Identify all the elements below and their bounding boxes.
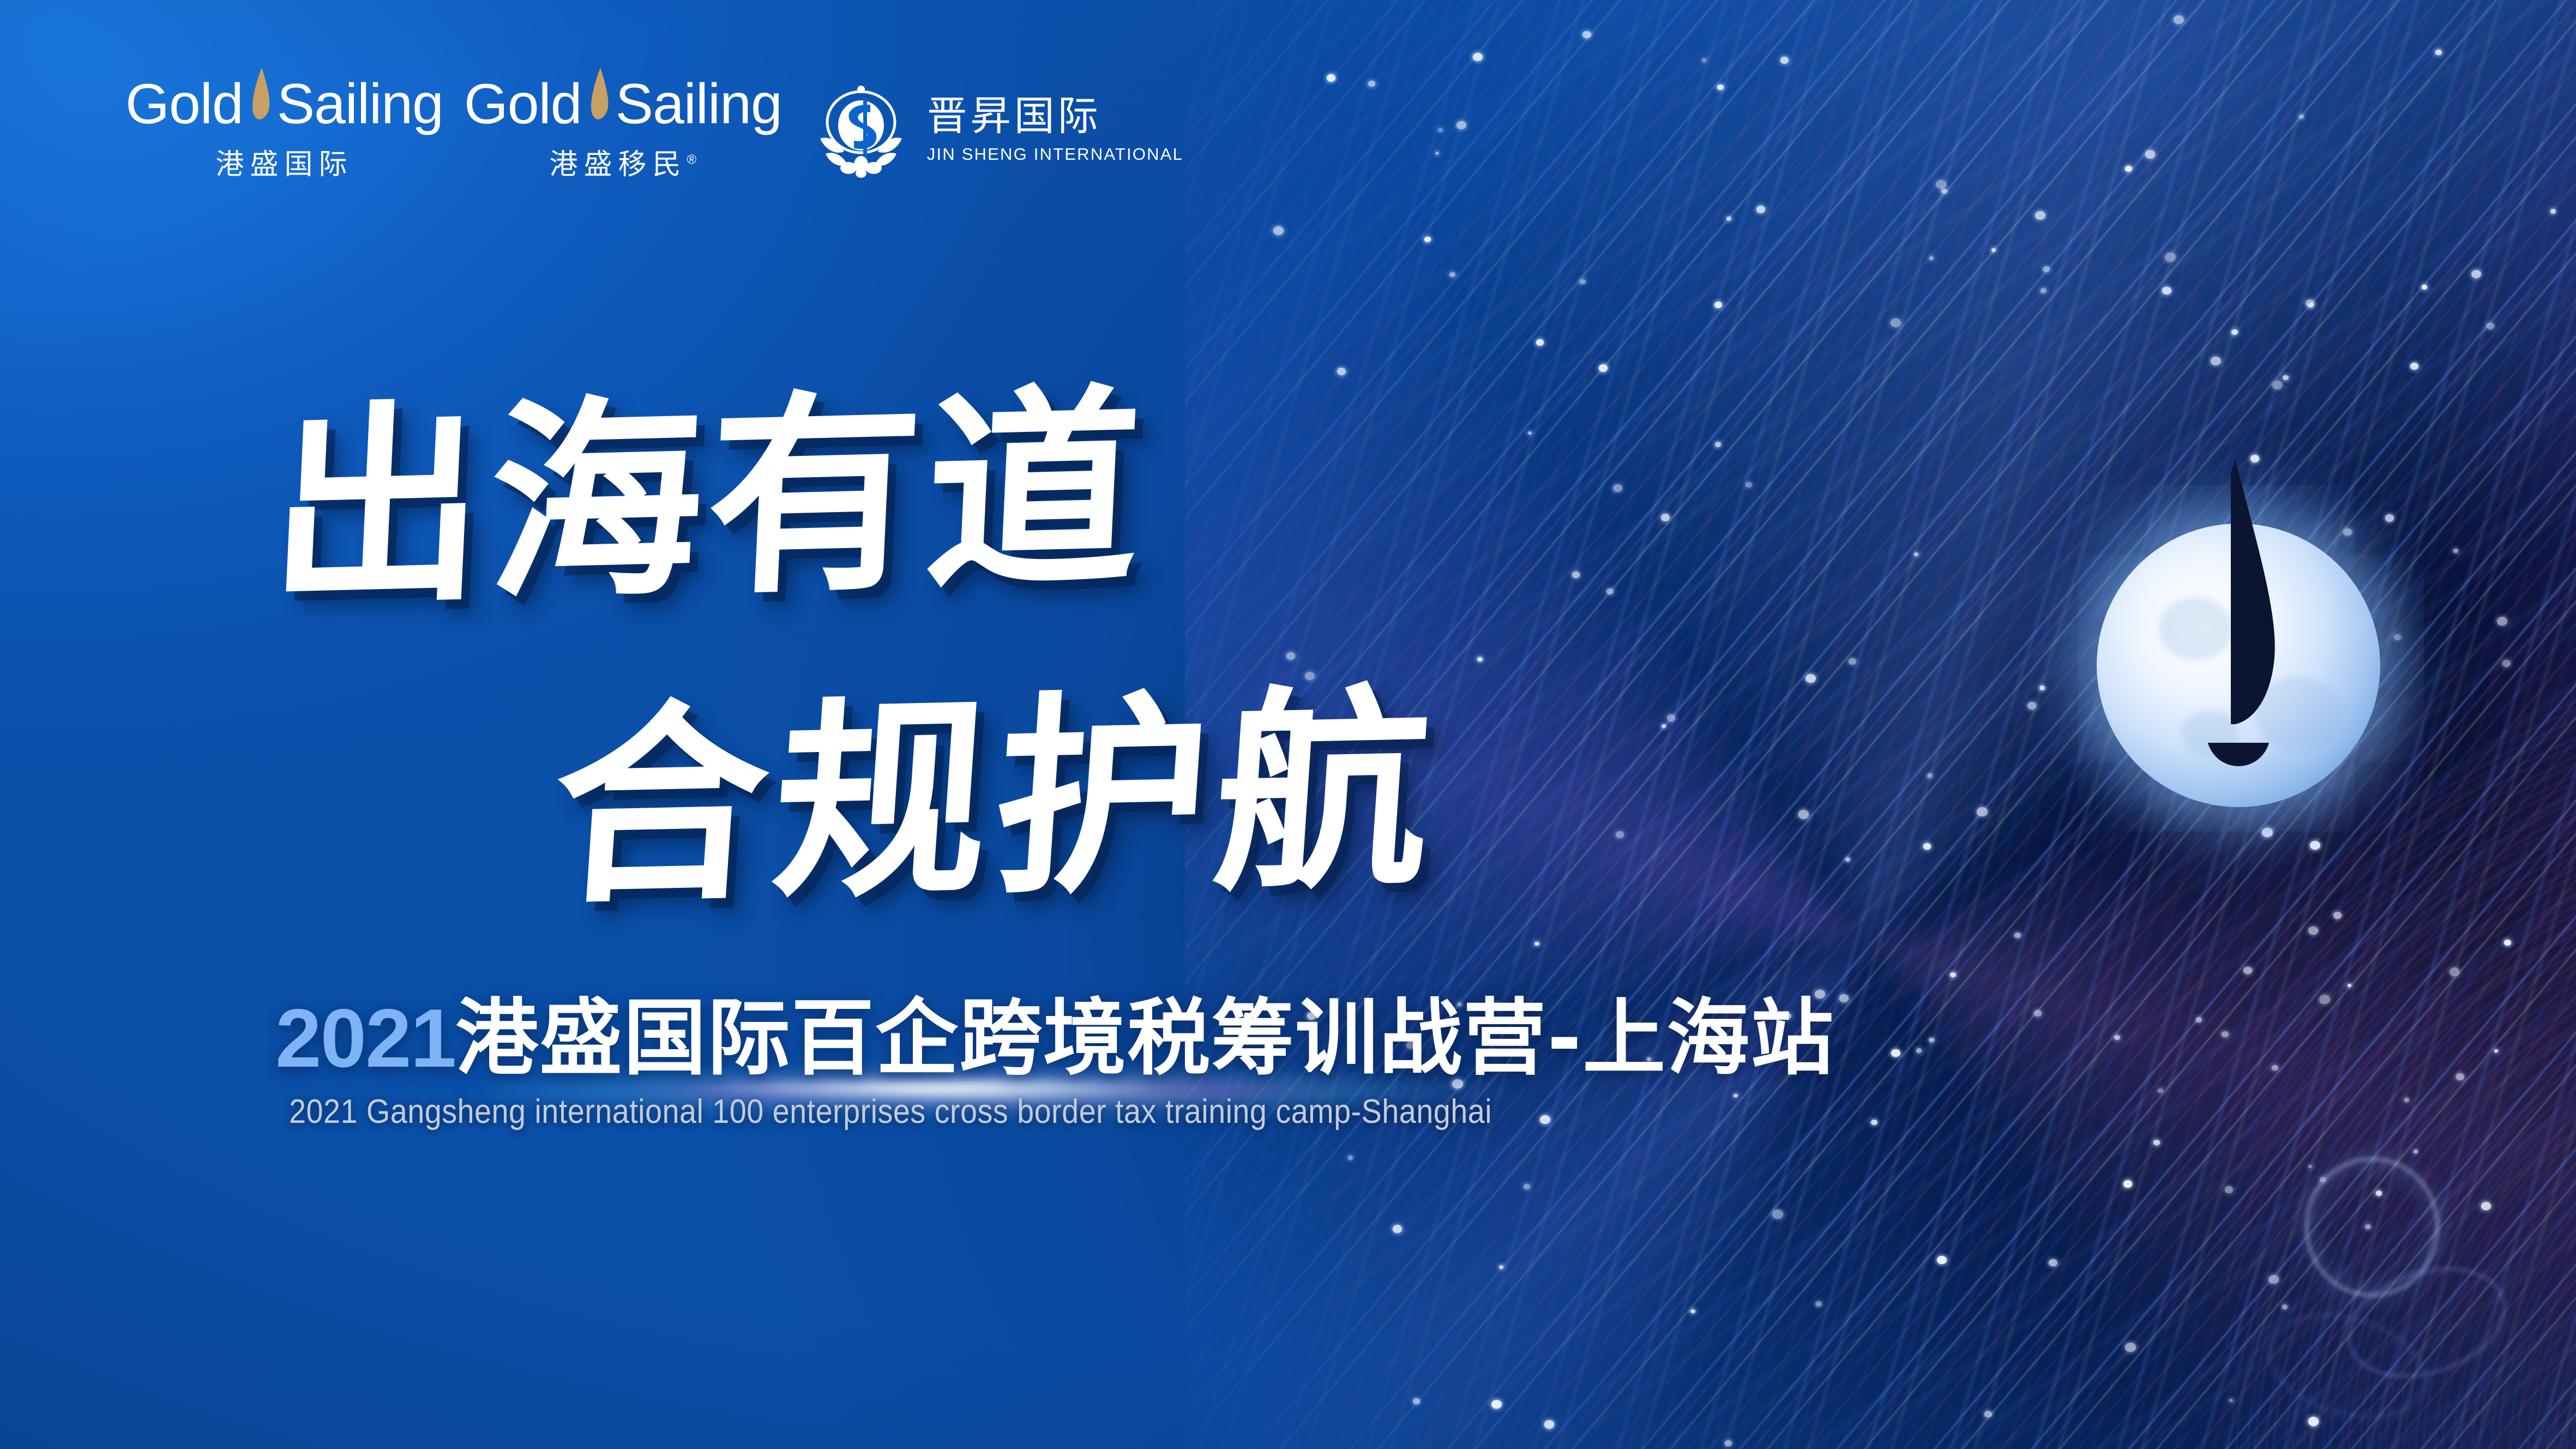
s-wreath-emblem-icon bbox=[810, 79, 912, 180]
sailboat-icon bbox=[2178, 452, 2298, 801]
gold-sailing-wordmark: Gold Sailing bbox=[125, 67, 443, 133]
wordmark-gold: Gold bbox=[464, 76, 582, 133]
jin-sheng-chinese: 晋昇国际 bbox=[927, 94, 1102, 138]
wordmark-gold: Gold bbox=[125, 76, 243, 133]
logo-bar: Gold Sailing 港盛国际 Gold Sailing bbox=[125, 67, 1183, 182]
event-banner: Gold Sailing 港盛国际 Gold Sailing bbox=[0, 0, 2576, 1449]
jin-sheng-text: 晋昇国际 JIN SHENG INTERNATIONAL bbox=[927, 94, 1183, 164]
event-year: 2021 bbox=[275, 992, 455, 1085]
logo-chinese-name: 港盛国际 bbox=[215, 141, 353, 182]
wordmark-sailing: Sailing bbox=[616, 76, 782, 133]
headline-line-1: 出海有道 bbox=[265, 317, 1153, 646]
headline-line-2: 合规护航 bbox=[545, 618, 1448, 944]
event-title-chinese: 2021港盛国际百企跨境税筹训战营-上海站 bbox=[275, 997, 1834, 1080]
jin-sheng-english: JIN SHENG INTERNATIONAL bbox=[927, 145, 1183, 164]
event-title-english: 2021 Gangsheng international 100 enterpr… bbox=[289, 1092, 1492, 1131]
gold-sail-icon bbox=[245, 67, 275, 123]
moon-sailboat-graphic bbox=[2097, 524, 2380, 807]
wordmark-sailing: Sailing bbox=[277, 76, 443, 133]
event-title-text: 港盛国际百企跨境税筹训战营-上海站 bbox=[455, 990, 1834, 1086]
gold-sail-icon bbox=[584, 67, 613, 123]
logo-gold-sailing-immigration[interactable]: Gold Sailing 港盛移民® bbox=[464, 67, 782, 182]
logo-gold-sailing-international[interactable]: Gold Sailing 港盛国际 bbox=[125, 67, 443, 182]
logo-jin-sheng-international[interactable]: 晋昇国际 JIN SHENG INTERNATIONAL bbox=[810, 79, 1183, 182]
registered-mark: ® bbox=[687, 153, 697, 167]
gold-sailing-wordmark: Gold Sailing bbox=[464, 67, 782, 133]
logo-chinese-name: 港盛移民® bbox=[549, 141, 696, 182]
logo-chinese-text: 港盛移民 bbox=[549, 149, 687, 181]
